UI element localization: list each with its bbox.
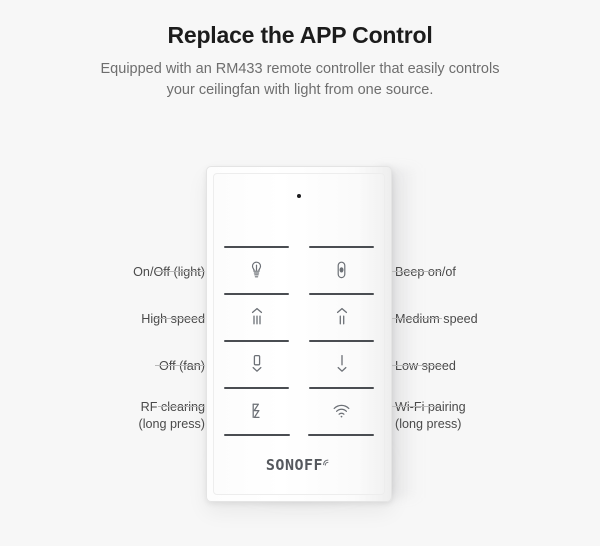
leader-line-right-2 [392,318,442,319]
button-low-speed[interactable] [299,340,384,387]
callout-right-3-label: Low speed [395,359,456,373]
callout-right-4-note: (long press) [395,416,466,433]
sonoff-brand-text: SONOFF [266,458,323,473]
page-subtitle-line-2: your ceilingfan with light from one sour… [0,80,600,101]
callout-left-3: Off (fan) [159,358,205,375]
callout-left-2: High speed [141,311,205,328]
button-row-1 [214,246,384,293]
page-subtitle: Equipped with an RM433 remote controller… [0,50,600,101]
button-medium-speed[interactable] [299,293,384,340]
callout-left-1: On/Off (light) [133,264,205,281]
fan-high-icon [246,305,268,329]
callout-right-4-label: Wi-Fi pairing [395,400,466,414]
page-title: Replace the APP Control [0,0,600,50]
leader-line-left-4 [158,406,205,407]
fan-medium-icon [331,305,353,329]
leader-line-left-3 [155,365,205,366]
callout-left-2-label: High speed [141,312,205,326]
button-light-on-off[interactable] [214,246,299,293]
callout-right-2-label: Medium speed [395,312,478,326]
button-rf-clearing[interactable] [214,387,299,434]
callout-right-2: Medium speed [395,311,478,328]
leader-line-left-1 [155,271,205,272]
callout-left-4-label: RF clearing [141,400,205,414]
leader-line-right-1 [392,271,442,272]
light-bulb-icon [246,258,268,282]
signal-wave-icon [322,454,331,472]
remote-face-panel: SONOFF [213,173,385,495]
callout-right-3: Low speed [395,358,456,375]
button-fan-off[interactable] [214,340,299,387]
beeper-icon [331,258,353,282]
button-row-2 [214,293,384,340]
button-high-speed[interactable] [214,293,299,340]
rm433-remote-device: SONOFF [206,166,392,502]
callout-right-4: Wi-Fi pairing (long press) [395,399,466,432]
sonoff-brand-logo: SONOFF [214,458,384,476]
page-header: Replace the APP Control Equipped with an… [0,0,600,101]
button-grid [214,246,384,434]
leader-line-right-4 [392,406,439,407]
brand-separator-left [224,434,290,436]
fan-low-icon [331,352,353,376]
callout-left-4: RF clearing (long press) [139,399,206,432]
fan-off-icon [246,352,268,376]
leader-line-left-2 [155,318,205,319]
rf-signal-icon [246,399,268,423]
button-wifi-pairing[interactable] [299,387,384,434]
page-subtitle-line-1: Equipped with an RM433 remote controller… [101,61,500,77]
button-beep-on-off[interactable] [299,246,384,293]
callout-right-1: Beep on/of [395,264,456,281]
callout-left-4-note: (long press) [139,416,206,433]
callout-left-3-label: Off (fan) [159,359,205,373]
button-row-4 [214,387,384,434]
led-indicator [297,194,301,198]
wifi-icon [331,399,353,423]
brand-separator-right [308,434,374,436]
callout-right-1-label: Beep on/of [395,265,456,279]
leader-line-right-3 [392,365,442,366]
callout-left-1-label: On/Off (light) [133,265,205,279]
button-row-3 [214,340,384,387]
